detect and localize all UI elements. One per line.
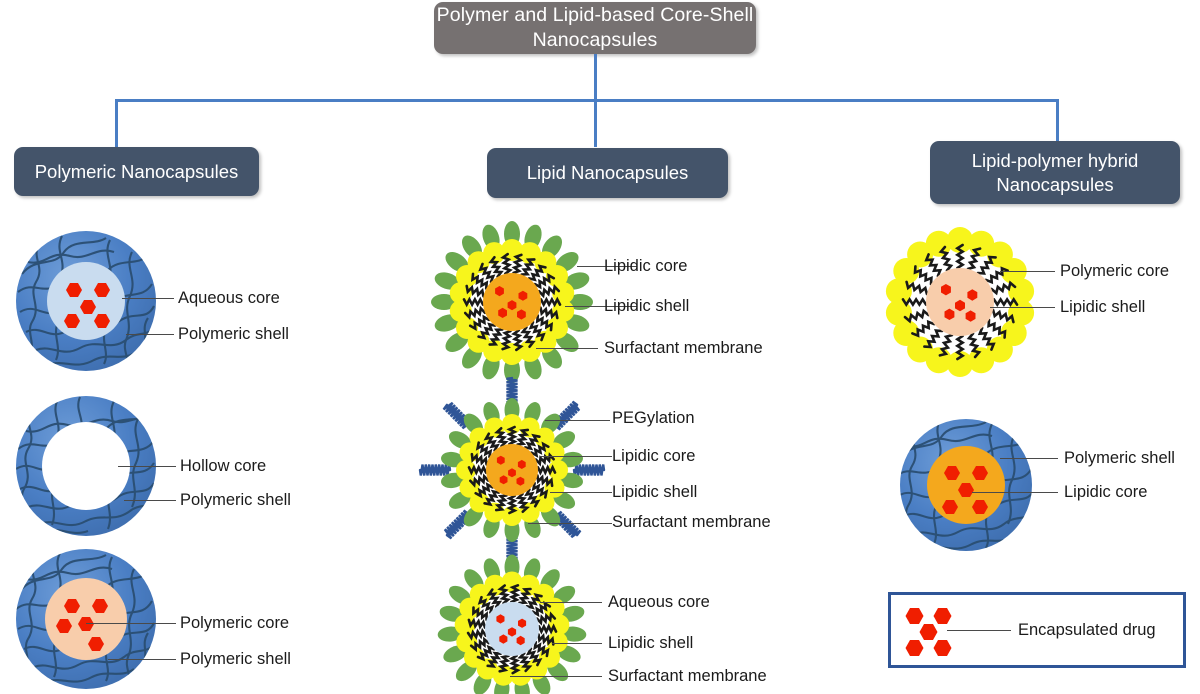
label-surfactant-membrane: Surfactant membrane: [612, 513, 771, 531]
label-aqueous-core: Aqueous core: [178, 289, 280, 307]
connector-drop-right: [1056, 99, 1059, 141]
label-surfactant-membrane: Surfactant membrane: [604, 339, 763, 357]
label-aqueous-core: Aqueous core: [608, 593, 710, 611]
connector-drop-left: [115, 99, 118, 147]
category-header-lipid-polymer-hybrid-nanocapsules[interactable]: Lipid-polymer hybrid Nanocapsules: [930, 141, 1180, 204]
category-header-polymeric-nanocapsules[interactable]: Polymeric Nanocapsules: [14, 147, 259, 196]
diagram-title: Polymer and Lipid-based Core-Shell Nanoc…: [434, 2, 756, 54]
label-surfactant-membrane: Surfactant membrane: [608, 667, 767, 685]
label-lipidic-shell: Lipidic shell: [608, 634, 693, 652]
label-polymeric-shell: Polymeric shell: [180, 491, 291, 509]
label-polymeric-core: Polymeric core: [180, 614, 289, 632]
label-lipidic-shell: Lipidic shell: [612, 483, 697, 501]
encapsulated-drug-group: [906, 608, 952, 656]
leader-line: [126, 334, 174, 335]
figure-hybrid-polymeric-core: [876, 226, 1044, 382]
leader-line: [1000, 458, 1058, 459]
hollow-core-region: [42, 422, 130, 510]
leader-line: [947, 630, 1011, 631]
connector-drop-middle: [594, 99, 597, 147]
figure-polymeric-polymeric-core: [2, 545, 170, 692]
legend-drug-icon: [904, 602, 960, 660]
label-hollow-core: Hollow core: [180, 457, 266, 475]
figure-lipid-basic: [428, 224, 596, 380]
leader-line: [536, 348, 598, 349]
figure-hybrid-lipidic-core: [886, 412, 1046, 562]
leader-line: [528, 523, 612, 524]
leader-line: [972, 492, 1058, 493]
label-polymeric-shell: Polymeric shell: [180, 650, 291, 668]
leader-line: [990, 307, 1055, 308]
leader-line: [540, 456, 612, 457]
leader-line: [545, 420, 610, 421]
leader-line: [550, 492, 612, 493]
label-lipidic-core: Lipidic core: [612, 447, 695, 465]
label-lipidic-core: Lipidic core: [604, 257, 687, 275]
label-lipidic-shell: Lipidic shell: [1060, 298, 1145, 316]
figure-lipid-pegylated: [412, 382, 612, 558]
category-header-lipid-nanocapsules[interactable]: Lipid Nanocapsules: [487, 148, 728, 198]
leader-line: [1000, 271, 1055, 272]
leader-line: [108, 659, 176, 660]
label-encapsulated-drug: Encapsulated drug: [1018, 621, 1156, 640]
leader-line: [552, 643, 602, 644]
label-polymeric-shell: Polymeric shell: [1064, 449, 1175, 467]
label-pegylation: PEGylation: [612, 409, 695, 427]
leader-line: [118, 466, 176, 467]
label-lipidic-core: Lipidic core: [1064, 483, 1147, 501]
leader-line: [86, 623, 176, 624]
leader-line: [124, 500, 176, 501]
leader-line: [510, 676, 602, 677]
label-lipidic-shell: Lipidic shell: [604, 297, 689, 315]
label-polymeric-core: Polymeric core: [1060, 262, 1169, 280]
connector-stem-top: [594, 54, 597, 100]
figure-lipid-aqueous-core: [428, 564, 596, 694]
leader-line: [540, 602, 602, 603]
connector-horizontal: [115, 99, 1059, 102]
figure-polymeric-aqueous-core: [2, 226, 170, 376]
leader-line: [122, 298, 174, 299]
diagram-canvas: Polymer and Lipid-based Core-Shell Nanoc…: [0, 0, 1200, 692]
label-polymeric-shell: Polymeric shell: [178, 325, 289, 343]
